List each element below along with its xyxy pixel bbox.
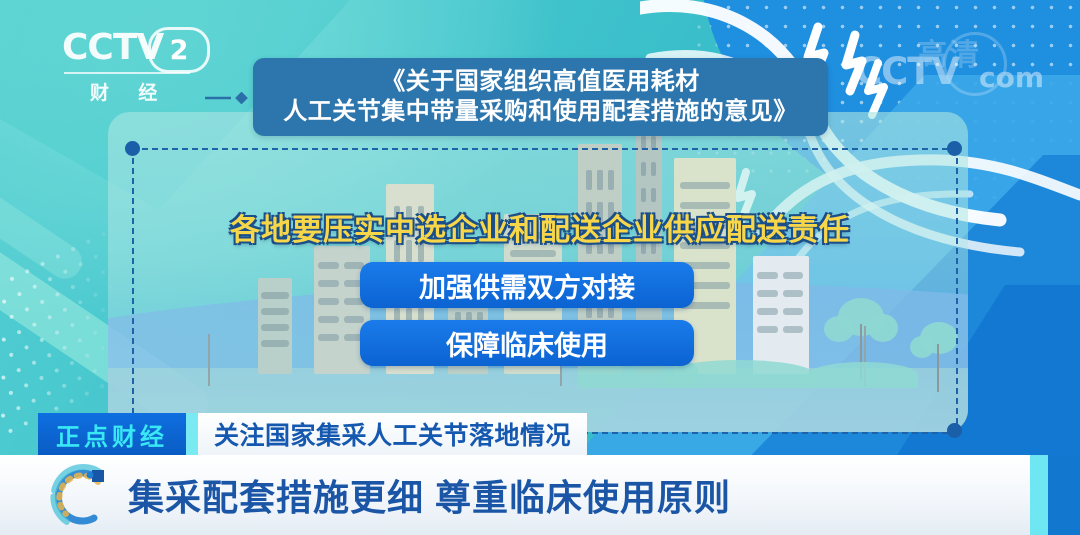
frame-corner-dot-top-right [947,141,962,156]
watermark-com-text: com [979,61,1044,94]
bullet-pill-2: 保障临床使用 [360,320,694,366]
ticker-accent-stripe [186,413,198,455]
watermark-cctv-text: CCTV [855,50,959,93]
ticker-topic-text: 关注国家集采人工关节落地情况 [198,413,587,455]
channel-subtitle: 财 经 [90,78,169,105]
cctv-com-watermark: 高清 CCTV com [855,28,1070,98]
title-line-2: 人工关节集中带量采购和使用配套措施的意见》 [283,97,798,127]
document-title-banner: 《关于国家组织高值医用耗材 人工关节集中带量采购和使用配套措施的意见》 [253,58,828,136]
bottom-bar-right-fill [1048,455,1080,535]
title-line-1: 《关于国家组织高值医用耗材 [381,67,700,97]
frame-corner-dot-top-left [125,141,140,156]
program-name-badge: 正点财经 [38,413,186,455]
bottom-headline-text: 集采配套措施更细 尊重临床使用原则 [128,455,731,535]
bottom-bar-accent [1030,455,1048,535]
yellow-headline: 各地要压实中选企业和配送企业供应配送责任 [0,205,1080,249]
channel-number-badge: 2 [148,27,210,73]
lower-third-ticker: 正点财经 关注国家集采人工关节落地情况 [38,413,587,455]
frame-corner-dot-bottom-right [947,423,962,438]
logo-dash-dot-ornament [205,92,255,104]
broadcast-screen: CCTV 2 财 经 高清 CCTV com 《关于国家组织高值医用耗材 人工关… [0,0,1080,535]
bullet-pill-1: 加强供需双方对接 [360,262,694,308]
logo-underline [64,72,190,74]
c-arc-logo-icon [42,462,114,530]
